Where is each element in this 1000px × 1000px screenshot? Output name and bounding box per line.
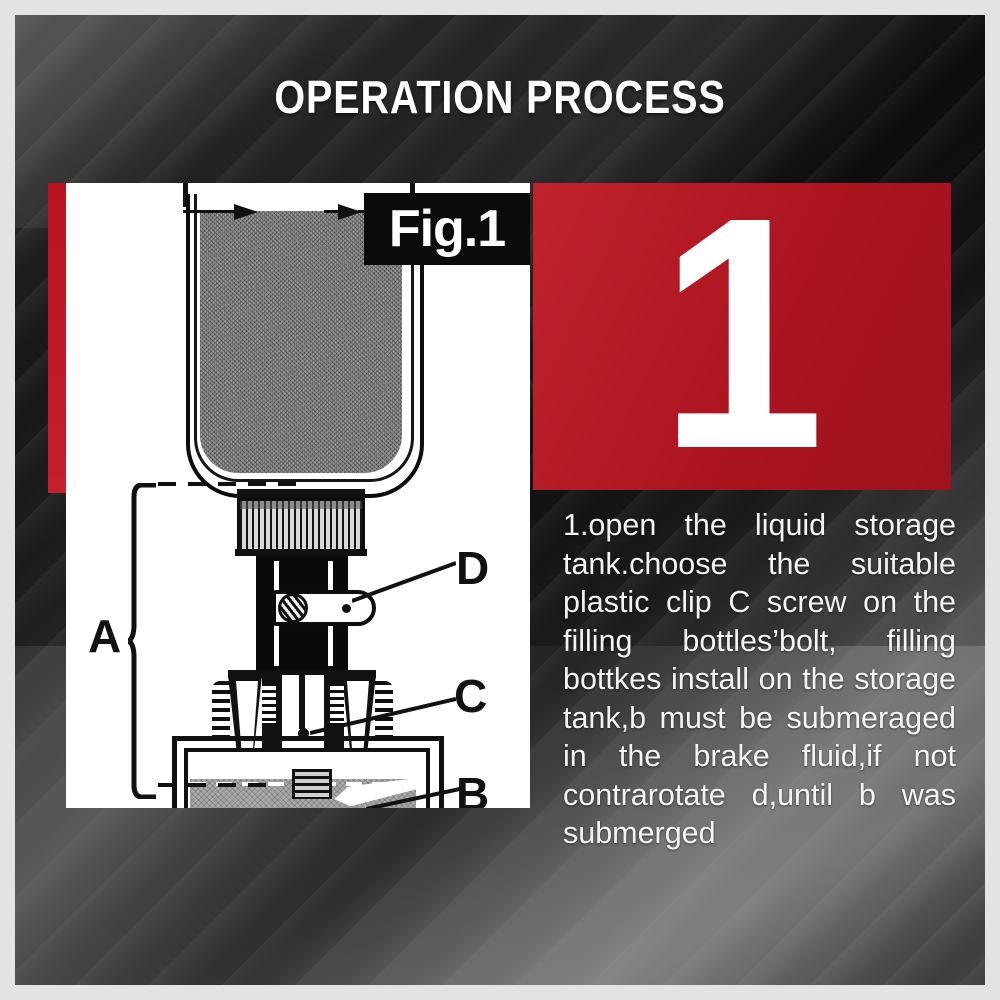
callout-a-bottom-dash — [158, 783, 278, 787]
callout-a-brace-icon — [128, 483, 158, 799]
red-accent-stripe — [48, 183, 67, 493]
figure-tag: Fig.1 — [364, 193, 530, 265]
callout-d-leader-line — [352, 561, 456, 603]
step-description: 1.open the liquid storage tank.choose th… — [563, 506, 956, 853]
step-number-banner: 1 — [533, 183, 951, 490]
clip-c-center-shaft — [299, 675, 305, 729]
callout-a-top-dash — [158, 482, 308, 486]
callout-a-label: A — [88, 613, 121, 659]
clip-d-screw-head-icon — [278, 593, 308, 623]
clip-d-leader-dot — [342, 604, 351, 613]
callout-b-label: B — [456, 771, 489, 808]
figure-tag-label: Fig.1 — [389, 203, 505, 255]
page-title: OPERATION PROCESS — [70, 70, 930, 124]
cap-bottom-edge — [235, 549, 367, 556]
step-number: 1 — [554, 183, 930, 490]
callout-c-leader-line — [310, 695, 456, 737]
reservoir-screw-stub — [292, 769, 332, 799]
callout-b-leader-line — [366, 783, 460, 808]
fill-arrow-head-left-icon — [234, 204, 258, 220]
clip-c-thread-left — [212, 681, 230, 743]
bottle-neck-collar — [237, 489, 365, 498]
callout-d-label: D — [456, 545, 489, 591]
cap-shading — [240, 501, 362, 509]
callout-c-label: C — [454, 673, 487, 719]
poster-root: OPERATION PROCESS 1 1.open the liquid st… — [0, 0, 1000, 1000]
figure-panel: A D C B — [66, 183, 530, 808]
clip-c-inner-thread-left — [262, 683, 276, 723]
